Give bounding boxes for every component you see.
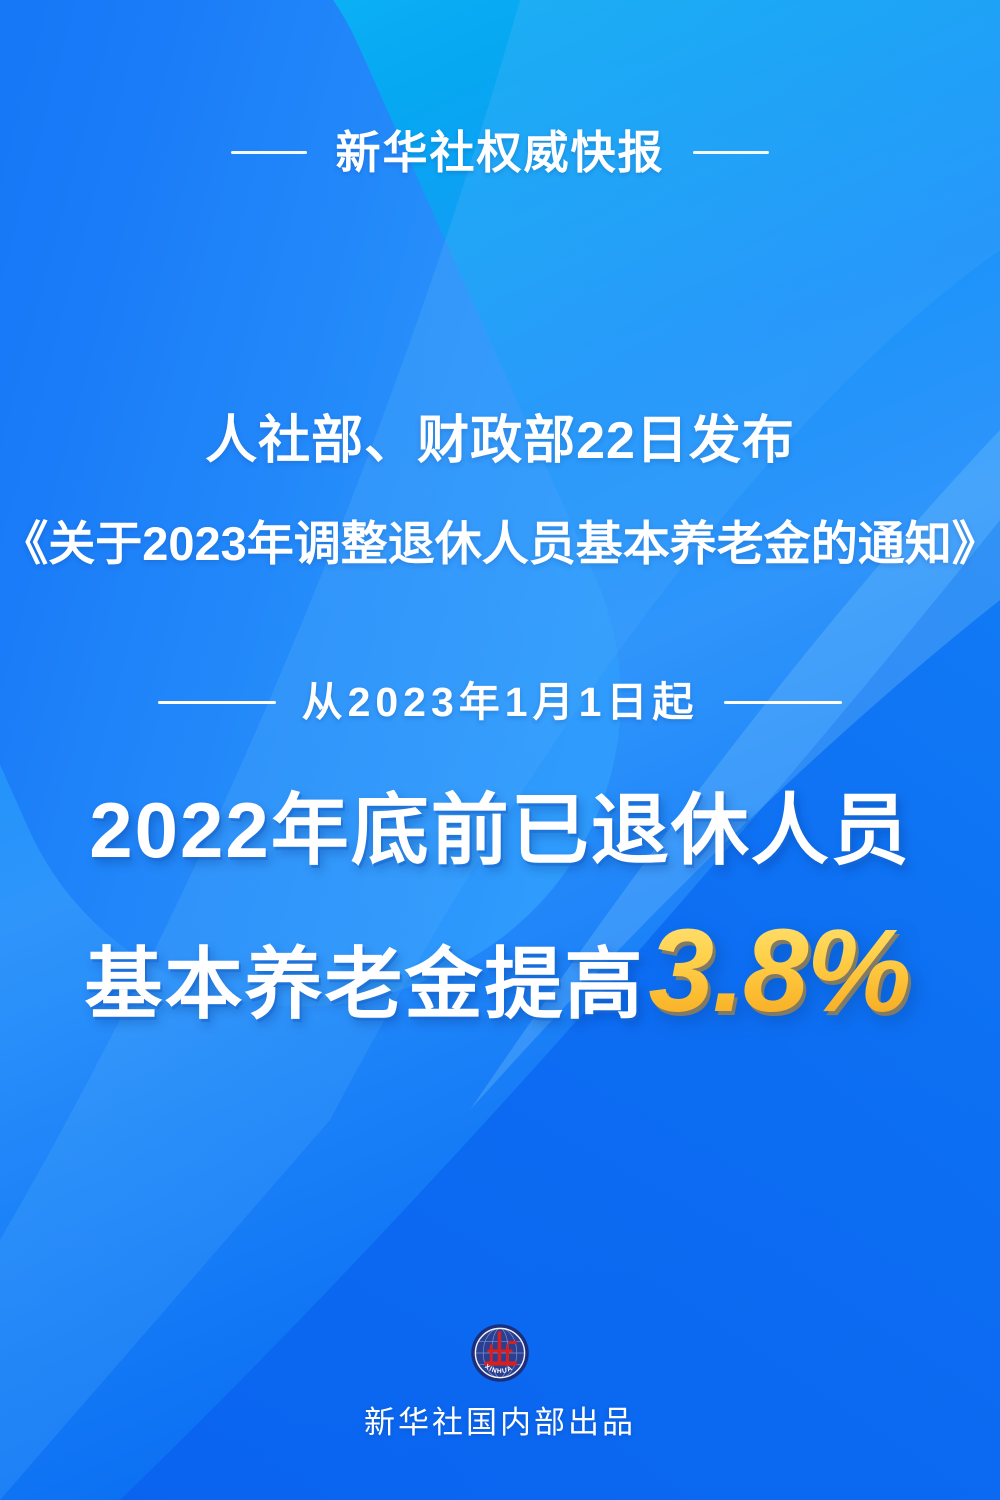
- shape-light-sweep: [0, 0, 1000, 1500]
- lead-line-1: 人社部、财政部22日发布: [0, 398, 1000, 473]
- effective-date-row: 从2023年1月1日起: [0, 674, 1000, 730]
- effective-date-text: 从2023年1月1日起: [302, 682, 699, 723]
- header-bar: 新华社权威快报: [0, 112, 1000, 192]
- header-rule-left-icon: [231, 151, 307, 154]
- xinhua-logo-icon: XINHUA: [470, 1323, 530, 1383]
- background-decoration: [0, 0, 1000, 1500]
- headline-line-2: 基本养老金提高 3.8%: [0, 912, 1000, 1030]
- headline-percentage-value: 3.8%: [649, 912, 916, 1030]
- footer: XINHUA 新华社国内部出品: [0, 1323, 1000, 1442]
- headline-line-1: 2022年底前已退休人员: [0, 788, 1000, 874]
- date-rule-right-icon: [724, 701, 842, 704]
- date-rule-left-icon: [158, 701, 276, 704]
- headline-line-2-prefix: 基本养老金提高: [85, 942, 645, 1028]
- lead-line-2: 《关于2023年调整退休人员基本养老金的通知》: [0, 505, 1000, 574]
- poster-canvas: 新华社权威快报 人社部、财政部22日发布 《关于2023年调整退休人员基本养老金…: [0, 0, 1000, 1500]
- footer-text: 新华社国内部出品: [364, 1397, 636, 1442]
- headline-line-1-text: 2022年底前已退休人员: [89, 786, 911, 874]
- header-title: 新华社权威快报: [335, 130, 664, 175]
- header-rule-right-icon: [693, 151, 769, 154]
